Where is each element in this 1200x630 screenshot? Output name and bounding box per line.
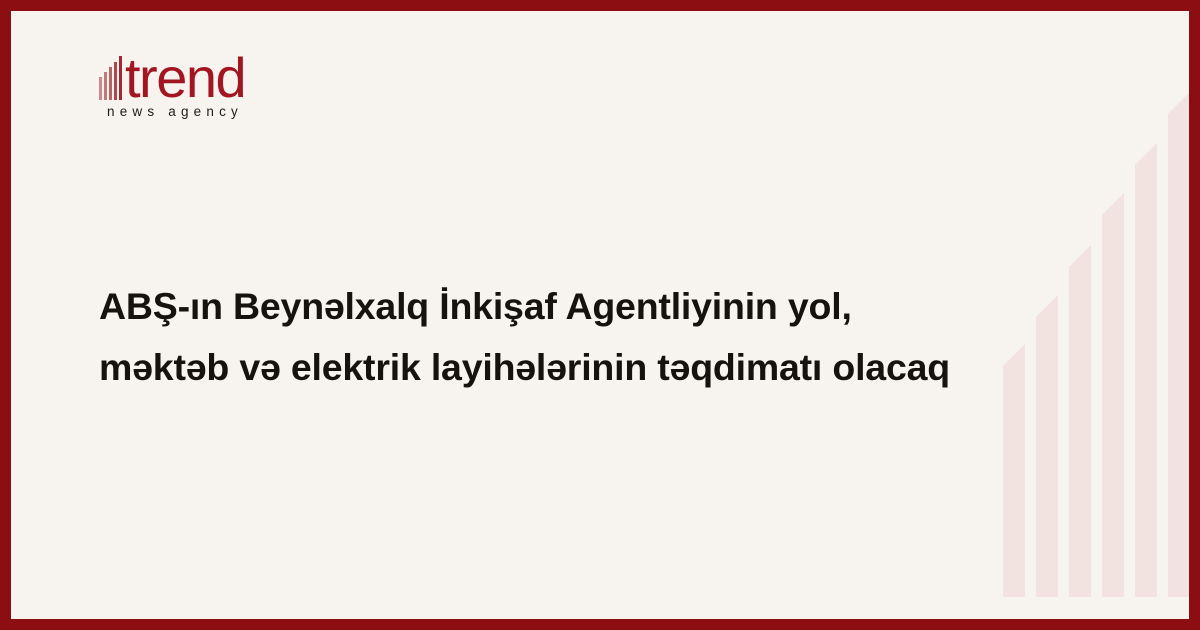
logo-wordmark: trend bbox=[125, 53, 245, 103]
watermark-bar-1 bbox=[1003, 344, 1025, 597]
social-share-card: trend news agency ABŞ-ın Beynəlxalq İnki… bbox=[0, 0, 1200, 630]
headline: ABŞ-ın Beynəlxalq İnkişaf Agentliyinin y… bbox=[99, 276, 969, 398]
logo-bar-2 bbox=[104, 72, 107, 100]
watermark-bar-6 bbox=[1168, 92, 1189, 597]
watermark-bar-4 bbox=[1102, 193, 1124, 597]
logo-bar-1 bbox=[99, 77, 102, 100]
logo-mark-row: trend bbox=[99, 48, 349, 100]
watermark-bar-5 bbox=[1135, 143, 1157, 597]
logo-bar-4 bbox=[114, 62, 117, 100]
trend-news-agency-logo[interactable]: trend news agency bbox=[99, 48, 349, 119]
card-canvas: trend news agency ABŞ-ın Beynəlxalq İnki… bbox=[11, 11, 1189, 619]
ascending-bars-icon bbox=[99, 55, 124, 100]
logo-bar-3 bbox=[109, 67, 112, 100]
watermark-bar-2 bbox=[1036, 295, 1058, 597]
watermark-bar-3 bbox=[1069, 245, 1091, 597]
ascending-bars-watermark bbox=[1003, 11, 1189, 597]
logo-bar-5 bbox=[119, 56, 122, 100]
